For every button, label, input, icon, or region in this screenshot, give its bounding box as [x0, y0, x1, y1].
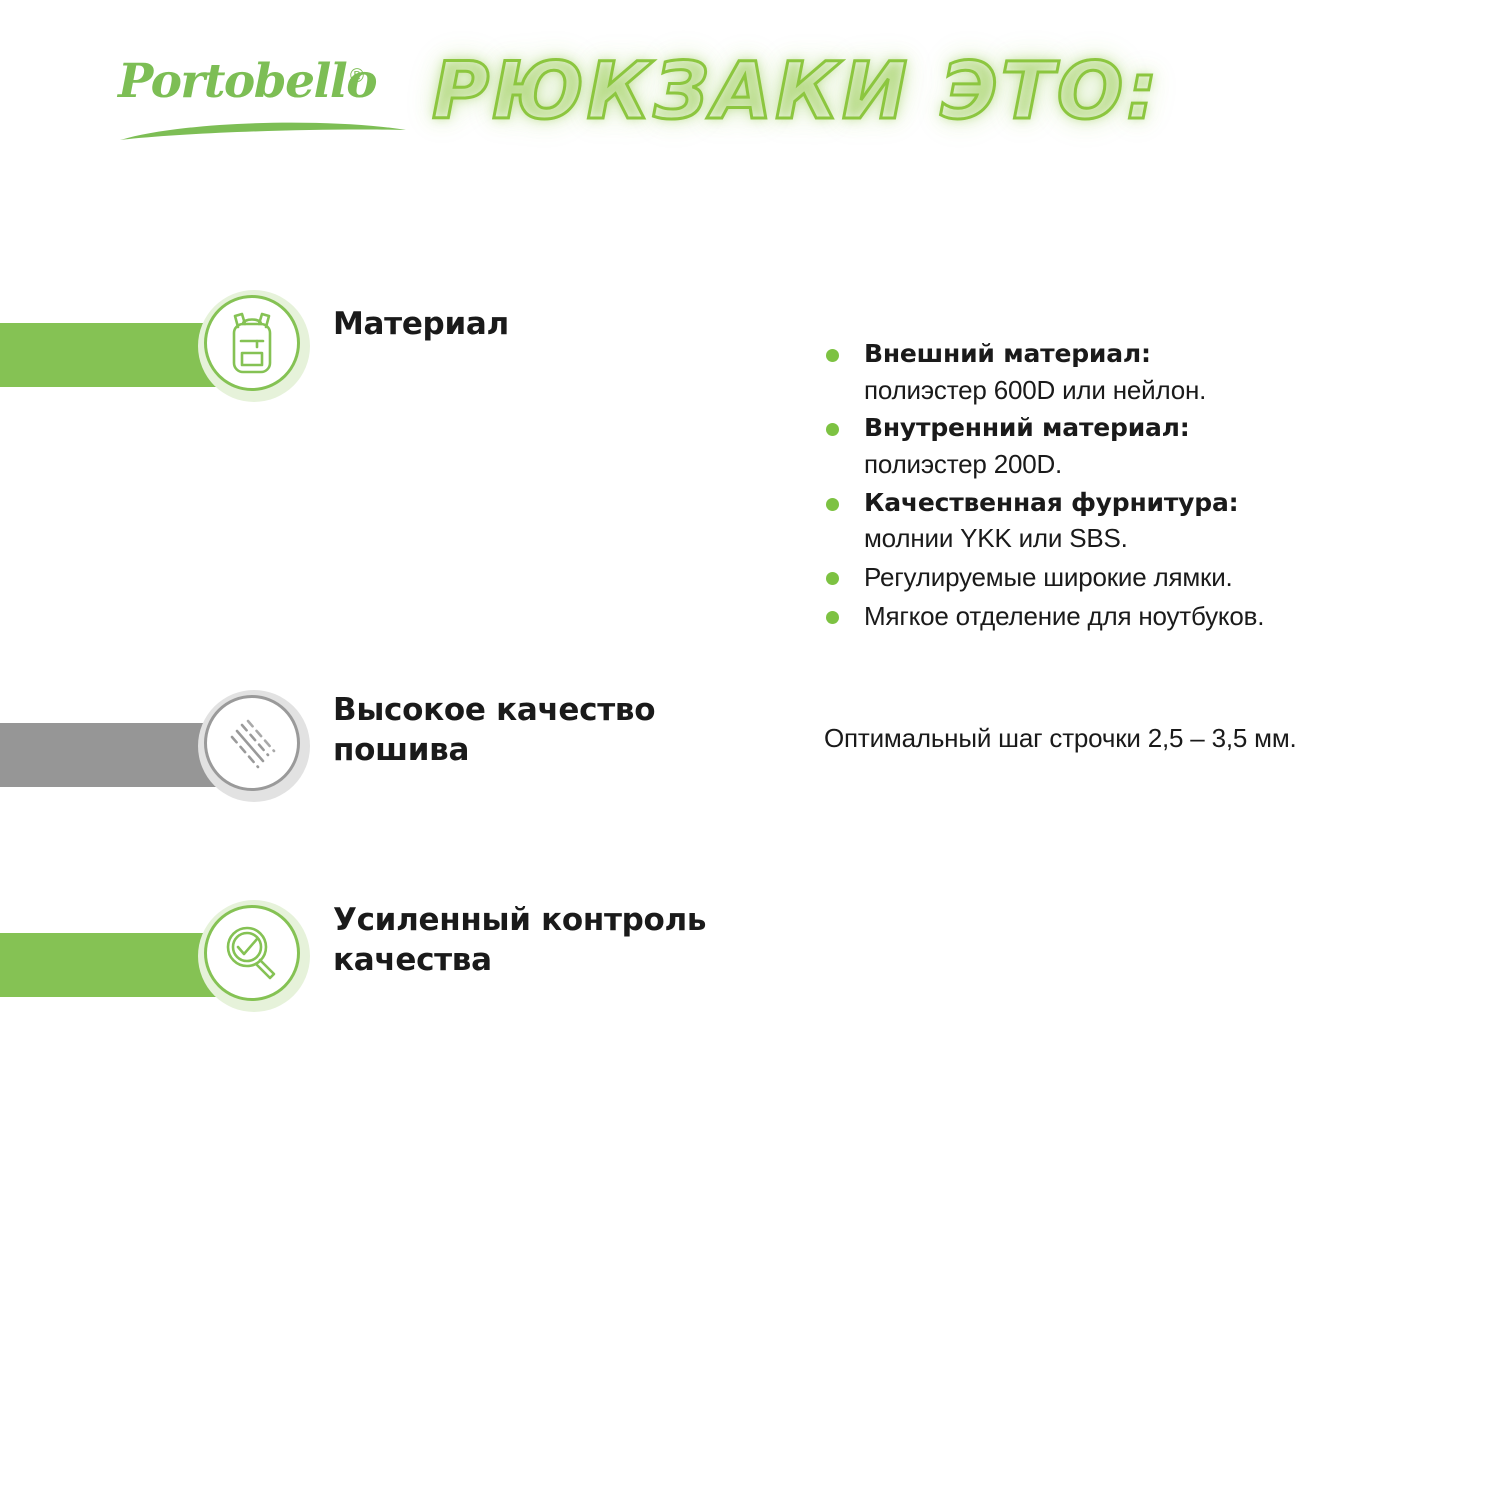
list-item: Внутренний материал: полиэстер 200D. — [824, 410, 1444, 482]
magnifier-check-icon — [220, 921, 284, 985]
bullet-dot-icon — [826, 572, 839, 585]
brand-logo: Portobello ® — [118, 58, 408, 150]
list-item: Качественная фурнитура: молнии YKK или S… — [824, 485, 1444, 557]
icon-disc — [204, 695, 300, 791]
row-title: Усиленный контроль качества — [333, 900, 763, 981]
list-item-value: молнии YKK или SBS. — [864, 520, 1444, 557]
row-title: Высокое качество пошива — [333, 690, 763, 771]
stitching-icon — [220, 711, 284, 775]
page-title: РЮКЗАКИ ЭТО: — [432, 48, 1160, 138]
registered-trademark-icon: ® — [350, 66, 364, 88]
material-bullet-list: Внешний материал: полиэстер 600D или ней… — [824, 336, 1444, 637]
list-item-value: Мягкое отделение для ноутбуков. — [864, 598, 1444, 635]
bullet-dot-icon — [826, 423, 839, 436]
list-item-value: полиэстер 600D или нейлон. — [864, 372, 1444, 409]
list-item: Регулируемые широкие лямки. — [824, 559, 1444, 596]
list-item: Мягкое отделение для ноутбуков. — [824, 598, 1444, 635]
bullet-dot-icon — [826, 349, 839, 362]
list-item-label: Качественная фурнитура: — [864, 485, 1444, 521]
stitch-note: Оптимальный шаг строчки 2,5 – 3,5 мм. — [824, 720, 1464, 756]
icon-disc — [204, 295, 300, 391]
brand-logo-wordmark: Portobello — [118, 58, 408, 105]
list-item: Внешний материал: полиэстер 600D или ней… — [824, 336, 1444, 408]
list-item-label: Внешний материал: — [864, 336, 1444, 372]
page-header: Portobello ® РЮКЗАКИ ЭТО: — [0, 0, 1500, 180]
list-item-value: полиэстер 200D. — [864, 446, 1444, 483]
bullet-dot-icon — [826, 498, 839, 511]
icon-disc — [204, 905, 300, 1001]
list-item-value: Регулируемые широкие лямки. — [864, 559, 1444, 596]
brand-logo-swoosh-icon — [118, 116, 408, 142]
backpack-icon — [221, 310, 283, 376]
feature-row-quality-control: Усиленный контроль качества — [0, 900, 1500, 1030]
bullet-dot-icon — [826, 611, 839, 624]
list-item-label: Внутренний материал: — [864, 410, 1444, 446]
row-title: Материал — [333, 304, 763, 344]
